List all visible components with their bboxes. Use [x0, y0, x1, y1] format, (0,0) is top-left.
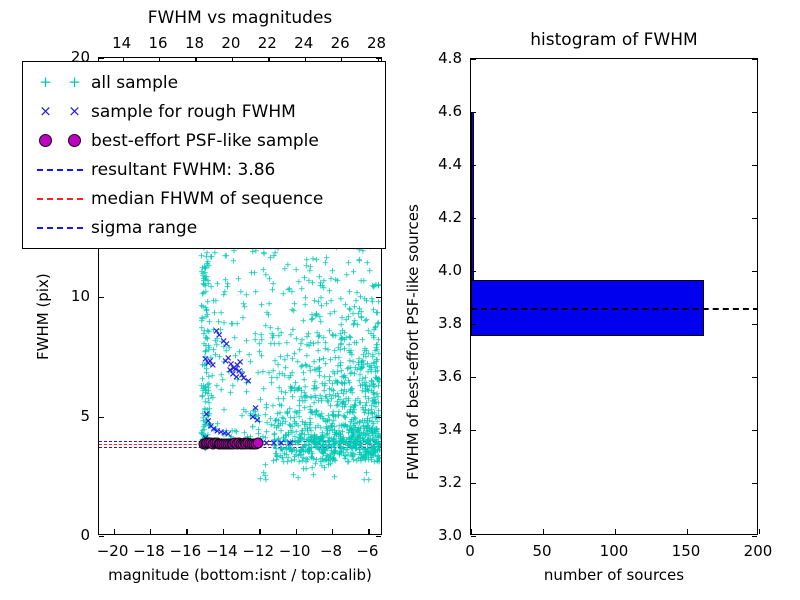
- all-sample-point: +: [367, 330, 375, 339]
- all-sample-point: +: [240, 407, 248, 416]
- all-sample-point: +: [354, 322, 362, 331]
- all-sample-point: +: [265, 311, 273, 320]
- rough-fwhm-point: ×: [227, 360, 235, 370]
- all-sample-point: +: [321, 374, 329, 383]
- all-sample-point: +: [332, 378, 340, 387]
- all-sample-point: +: [335, 428, 343, 437]
- all-sample-point: +: [348, 386, 356, 395]
- legend-item-label: all sample: [89, 73, 178, 93]
- all-sample-point: +: [369, 453, 377, 462]
- all-sample-point: +: [334, 398, 342, 407]
- all-sample-point: +: [340, 450, 348, 459]
- all-sample-point: +: [369, 424, 377, 433]
- all-sample-point: +: [370, 327, 378, 336]
- all-sample-point: +: [299, 419, 307, 428]
- all-sample-point: +: [332, 431, 340, 440]
- all-sample-point: +: [295, 402, 303, 411]
- all-sample-point: +: [202, 348, 210, 357]
- all-sample-point: +: [330, 411, 338, 420]
- all-sample-point: +: [291, 447, 299, 456]
- all-sample-point: +: [336, 449, 344, 458]
- all-sample-point: +: [349, 453, 357, 462]
- figure-canvas: FWHM vs magnitudes +++++++++++++++++++++…: [0, 0, 800, 600]
- all-sample-point: +: [357, 278, 365, 287]
- all-sample-point: +: [203, 253, 211, 262]
- all-sample-point: +: [307, 428, 315, 437]
- all-sample-point: +: [365, 437, 373, 446]
- all-sample-point: +: [203, 308, 211, 317]
- all-sample-point: +: [375, 378, 381, 387]
- blue-dashed-line: [37, 169, 83, 171]
- all-sample-point: +: [334, 369, 342, 378]
- all-sample-point: +: [320, 387, 328, 396]
- all-sample-point: +: [328, 396, 336, 405]
- rough-fwhm-point: ×: [206, 357, 214, 367]
- all-sample-point: +: [352, 415, 360, 424]
- top-x-tick-label: 20: [221, 34, 240, 52]
- all-sample-point: +: [281, 266, 289, 275]
- all-sample-point: +: [307, 434, 315, 443]
- all-sample-point: +: [331, 441, 339, 450]
- hist-y-tick: [471, 536, 476, 537]
- all-sample-point: +: [286, 421, 294, 430]
- top-x-tick-label: 22: [258, 34, 277, 52]
- all-sample-point: +: [353, 457, 361, 466]
- all-sample-point: +: [307, 395, 315, 404]
- all-sample-point: +: [296, 346, 304, 355]
- all-sample-point: +: [328, 386, 336, 395]
- all-sample-point: +: [292, 428, 300, 437]
- all-sample-point: +: [351, 339, 359, 348]
- all-sample-point: +: [337, 438, 345, 447]
- all-sample-point: +: [358, 363, 366, 372]
- all-sample-point: +: [331, 458, 339, 467]
- all-sample-point: +: [220, 292, 228, 301]
- all-sample-point: +: [350, 430, 358, 439]
- all-sample-point: +: [372, 447, 380, 456]
- all-sample-point: +: [296, 432, 304, 441]
- all-sample-point: +: [374, 447, 381, 456]
- histogram-x-axis-label: number of sources: [470, 566, 758, 584]
- all-sample-point: +: [345, 364, 353, 373]
- all-sample-point: +: [308, 449, 316, 458]
- all-sample-point: +: [311, 383, 319, 392]
- all-sample-point: +: [262, 476, 270, 485]
- all-sample-point: +: [338, 374, 346, 383]
- all-sample-point: +: [309, 434, 317, 443]
- all-sample-point: +: [339, 422, 347, 431]
- all-sample-point: +: [217, 371, 225, 380]
- all-sample-point: +: [275, 417, 283, 426]
- all-sample-point: +: [260, 386, 268, 395]
- all-sample-point: +: [316, 357, 324, 366]
- all-sample-point: +: [376, 455, 381, 464]
- all-sample-point: +: [321, 346, 329, 355]
- all-sample-point: +: [317, 294, 325, 303]
- all-sample-point: +: [325, 454, 333, 463]
- all-sample-point: +: [347, 365, 355, 374]
- all-sample-point: +: [320, 415, 328, 424]
- all-sample-point: +: [265, 301, 273, 310]
- all-sample-point: +: [347, 386, 355, 395]
- all-sample-point: +: [320, 447, 328, 456]
- all-sample-point: +: [367, 451, 375, 460]
- all-sample-point: +: [295, 386, 303, 395]
- x-tick: [223, 529, 224, 534]
- all-sample-point: +: [359, 406, 367, 415]
- all-sample-point: +: [205, 412, 213, 421]
- all-sample-point: +: [368, 403, 376, 412]
- all-sample-point: +: [347, 371, 355, 380]
- all-sample-point: +: [286, 286, 294, 295]
- all-sample-point: +: [288, 424, 296, 433]
- all-sample-point: +: [263, 420, 271, 429]
- rough-fwhm-point: ×: [201, 355, 209, 365]
- all-sample-point: +: [289, 448, 297, 457]
- all-sample-point: +: [317, 456, 325, 465]
- all-sample-point: +: [271, 341, 279, 350]
- all-sample-point: +: [348, 452, 356, 461]
- legend-item-label: sample for rough FWHM: [89, 102, 296, 122]
- all-sample-point: +: [337, 336, 345, 345]
- all-sample-point: +: [367, 426, 375, 435]
- all-sample-point: +: [320, 334, 328, 343]
- all-sample-point: +: [373, 427, 381, 436]
- all-sample-point: +: [375, 407, 381, 416]
- rough-fwhm-point: ×: [232, 373, 240, 383]
- scatter-x-axis-label: magnitude (bottom:isnt / top:calib): [70, 566, 410, 584]
- y-tick-right: [376, 58, 381, 59]
- all-sample-point: +: [201, 283, 209, 292]
- all-sample-point: +: [347, 407, 355, 416]
- all-sample-point: +: [338, 400, 346, 409]
- plus-marker: +: [39, 75, 52, 90]
- rough-fwhm-point: ×: [231, 365, 239, 375]
- all-sample-point: +: [369, 397, 377, 406]
- all-sample-point: +: [243, 291, 251, 300]
- all-sample-point: +: [326, 373, 334, 382]
- all-sample-point: +: [297, 341, 305, 350]
- all-sample-point: +: [367, 363, 375, 372]
- all-sample-point: +: [305, 432, 313, 441]
- all-sample-point: +: [224, 283, 232, 292]
- all-sample-point: +: [375, 455, 381, 464]
- all-sample-point: +: [229, 383, 237, 392]
- all-sample-point: +: [242, 409, 250, 418]
- all-sample-point: +: [329, 332, 337, 341]
- y-tick-label: 5: [80, 407, 90, 425]
- histogram-bar: [471, 112, 474, 280]
- all-sample-point: +: [355, 456, 363, 465]
- all-sample-point: +: [375, 282, 381, 291]
- all-sample-point: +: [202, 389, 210, 398]
- all-sample-point: +: [298, 363, 306, 372]
- all-sample-point: +: [290, 415, 298, 424]
- all-sample-point: +: [346, 306, 354, 315]
- all-sample-point: +: [338, 368, 346, 377]
- all-sample-point: +: [295, 278, 303, 287]
- all-sample-point: +: [318, 448, 326, 457]
- all-sample-point: +: [289, 356, 297, 365]
- all-sample-point: +: [310, 400, 318, 409]
- all-sample-point: +: [322, 361, 330, 370]
- all-sample-point: +: [278, 402, 286, 411]
- all-sample-point: +: [350, 410, 358, 419]
- all-sample-point: +: [203, 370, 211, 379]
- all-sample-point: +: [203, 416, 211, 425]
- all-sample-point: +: [299, 455, 307, 464]
- all-sample-point: +: [210, 426, 218, 435]
- all-sample-point: +: [273, 456, 281, 465]
- all-sample-point: +: [204, 312, 212, 321]
- all-sample-point: +: [204, 335, 212, 344]
- all-sample-point: +: [353, 339, 361, 348]
- all-sample-point: +: [362, 448, 370, 457]
- all-sample-point: +: [375, 351, 381, 360]
- all-sample-point: +: [363, 448, 371, 457]
- all-sample-point: +: [345, 427, 353, 436]
- all-sample-point: +: [317, 318, 325, 327]
- all-sample-point: +: [210, 326, 218, 335]
- all-sample-point: +: [324, 430, 332, 439]
- all-sample-point: +: [367, 448, 375, 457]
- y-tick: [99, 536, 104, 537]
- all-sample-point: +: [199, 387, 207, 396]
- all-sample-point: +: [280, 435, 288, 444]
- all-sample-point: +: [374, 321, 381, 330]
- all-sample-point: +: [339, 422, 347, 431]
- x-tick: [114, 529, 115, 534]
- all-sample-point: +: [203, 273, 211, 282]
- all-sample-point: +: [257, 396, 265, 405]
- hist-y-tick-label: 3.4: [438, 420, 462, 438]
- all-sample-point: +: [306, 268, 314, 277]
- all-sample-point: +: [233, 320, 241, 329]
- all-sample-point: +: [356, 454, 364, 463]
- all-sample-point: +: [352, 402, 360, 411]
- all-sample-point: +: [222, 348, 230, 357]
- all-sample-point: +: [368, 427, 376, 436]
- all-sample-point: +: [324, 458, 332, 467]
- hist-x-tick-label: 150: [672, 542, 701, 560]
- all-sample-point: +: [312, 312, 320, 321]
- all-sample-point: +: [296, 452, 304, 461]
- all-sample-point: +: [207, 254, 215, 263]
- all-sample-point: +: [302, 458, 310, 467]
- all-sample-point: +: [199, 265, 207, 274]
- all-sample-point: +: [341, 414, 349, 423]
- all-sample-point: +: [351, 318, 359, 327]
- all-sample-point: +: [303, 263, 311, 272]
- all-sample-point: +: [363, 426, 371, 435]
- all-sample-point: +: [345, 441, 353, 450]
- all-sample-point: +: [345, 458, 353, 467]
- all-sample-point: +: [360, 379, 368, 388]
- all-sample-point: +: [205, 380, 213, 389]
- all-sample-point: +: [228, 427, 236, 436]
- all-sample-point: +: [358, 358, 366, 367]
- all-sample-point: +: [339, 404, 347, 413]
- all-sample-point: +: [263, 309, 271, 318]
- all-sample-point: +: [355, 362, 363, 371]
- all-sample-point: +: [206, 410, 214, 419]
- all-sample-point: +: [276, 401, 284, 410]
- all-sample-point: +: [298, 428, 306, 437]
- all-sample-point: +: [368, 429, 376, 438]
- all-sample-point: +: [337, 296, 345, 305]
- all-sample-point: +: [222, 253, 230, 262]
- all-sample-point: +: [318, 302, 326, 311]
- all-sample-point: +: [207, 355, 215, 364]
- all-sample-point: +: [297, 364, 305, 373]
- x-tick: [368, 529, 369, 534]
- all-sample-point: +: [205, 400, 213, 409]
- all-sample-point: +: [340, 390, 348, 399]
- hist-x-tick: [687, 529, 688, 534]
- all-sample-point: +: [291, 350, 299, 359]
- all-sample-point: +: [293, 410, 301, 419]
- all-sample-point: +: [237, 289, 245, 298]
- all-sample-point: +: [358, 314, 366, 323]
- histogram-panel-title: histogram of FWHM: [470, 30, 758, 50]
- all-sample-point: +: [271, 358, 279, 367]
- all-sample-point: +: [209, 395, 217, 404]
- all-sample-point: +: [323, 457, 331, 466]
- all-sample-point: +: [331, 430, 339, 439]
- all-sample-point: +: [314, 422, 322, 431]
- histogram-panel-axes: [470, 58, 758, 535]
- all-sample-point: +: [369, 429, 377, 438]
- all-sample-point: +: [199, 271, 207, 280]
- all-sample-point: +: [277, 353, 285, 362]
- all-sample-point: +: [361, 452, 369, 461]
- all-sample-point: +: [366, 383, 374, 392]
- all-sample-point: +: [296, 397, 304, 406]
- all-sample-point: +: [311, 392, 319, 401]
- all-sample-point: +: [348, 389, 356, 398]
- all-sample-point: +: [220, 407, 228, 416]
- all-sample-point: +: [214, 280, 222, 289]
- all-sample-point: +: [343, 410, 351, 419]
- all-sample-point: +: [355, 427, 363, 436]
- all-sample-point: +: [212, 337, 220, 346]
- all-sample-point: +: [241, 303, 249, 312]
- all-sample-point: +: [287, 384, 295, 393]
- all-sample-point: +: [224, 280, 232, 289]
- all-sample-point: +: [282, 432, 290, 441]
- all-sample-point: +: [324, 424, 332, 433]
- all-sample-point: +: [204, 327, 212, 336]
- all-sample-point: +: [326, 288, 334, 297]
- all-sample-point: +: [339, 428, 347, 437]
- all-sample-point: +: [246, 413, 254, 422]
- x-tick-label: −18: [133, 542, 165, 560]
- all-sample-point: +: [371, 449, 379, 458]
- all-sample-point: +: [357, 400, 365, 409]
- all-sample-point: +: [356, 420, 364, 429]
- all-sample-point: +: [346, 307, 354, 316]
- all-sample-point: +: [235, 275, 243, 284]
- all-sample-point: +: [331, 427, 339, 436]
- all-sample-point: +: [279, 454, 287, 463]
- all-sample-point: +: [220, 343, 228, 352]
- rough-fwhm-point: ×: [220, 337, 228, 347]
- all-sample-point: +: [278, 388, 286, 397]
- all-sample-point: +: [364, 386, 372, 395]
- all-sample-point: +: [228, 320, 236, 329]
- all-sample-point: +: [199, 304, 207, 313]
- rough-fwhm-point: ×: [233, 361, 241, 371]
- all-sample-point: +: [371, 283, 379, 292]
- all-sample-point: +: [367, 438, 375, 447]
- all-sample-point: +: [318, 398, 326, 407]
- all-sample-point: +: [287, 428, 295, 437]
- all-sample-point: +: [356, 372, 364, 381]
- all-sample-point: +: [222, 428, 230, 437]
- all-sample-point: +: [371, 396, 379, 405]
- all-sample-point: +: [271, 438, 279, 447]
- all-sample-point: +: [305, 278, 313, 287]
- all-sample-point: +: [326, 377, 334, 386]
- all-sample-point: +: [373, 342, 381, 351]
- all-sample-point: +: [283, 340, 291, 349]
- all-sample-point: +: [345, 397, 353, 406]
- all-sample-point: +: [369, 283, 377, 292]
- all-sample-point: +: [291, 454, 299, 463]
- all-sample-point: +: [340, 452, 348, 461]
- all-sample-point: +: [301, 395, 309, 404]
- all-sample-point: +: [202, 304, 210, 313]
- all-sample-point: +: [362, 353, 370, 362]
- all-sample-point: +: [208, 393, 216, 402]
- all-sample-point: +: [221, 288, 229, 297]
- all-sample-point: +: [262, 271, 270, 280]
- all-sample-point: +: [367, 367, 375, 376]
- scatter-y-axis-label: FWHM (pix): [34, 273, 52, 360]
- all-sample-point: +: [350, 405, 358, 414]
- all-sample-point: +: [371, 427, 379, 436]
- all-sample-point: +: [364, 428, 372, 437]
- all-sample-point: +: [362, 375, 370, 384]
- all-sample-point: +: [280, 415, 288, 424]
- all-sample-point: +: [343, 446, 351, 455]
- all-sample-point: +: [361, 447, 369, 456]
- all-sample-point: +: [295, 459, 303, 468]
- hist-y-tick-label: 4.8: [438, 49, 462, 67]
- all-sample-point: +: [313, 384, 321, 393]
- all-sample-point: +: [200, 278, 208, 287]
- rough-fwhm-point: ×: [204, 417, 212, 427]
- x-tick-label: −6: [356, 542, 378, 560]
- all-sample-point: +: [287, 423, 295, 432]
- all-sample-point: +: [306, 425, 314, 434]
- all-sample-point: +: [304, 447, 312, 456]
- all-sample-point: +: [198, 269, 206, 278]
- rough-fwhm-point: ×: [207, 422, 215, 432]
- hist-y-tick-label: 4.0: [438, 261, 462, 279]
- all-sample-point: +: [329, 368, 337, 377]
- all-sample-point: +: [368, 365, 376, 374]
- all-sample-point: +: [298, 285, 306, 294]
- all-sample-point: +: [363, 427, 371, 436]
- hist-x-tick: [471, 529, 472, 534]
- all-sample-point: +: [290, 307, 298, 316]
- all-sample-point: +: [258, 336, 266, 345]
- all-sample-point: +: [340, 374, 348, 383]
- all-sample-point: +: [370, 360, 378, 369]
- all-sample-point: +: [322, 340, 330, 349]
- all-sample-point: +: [275, 332, 283, 341]
